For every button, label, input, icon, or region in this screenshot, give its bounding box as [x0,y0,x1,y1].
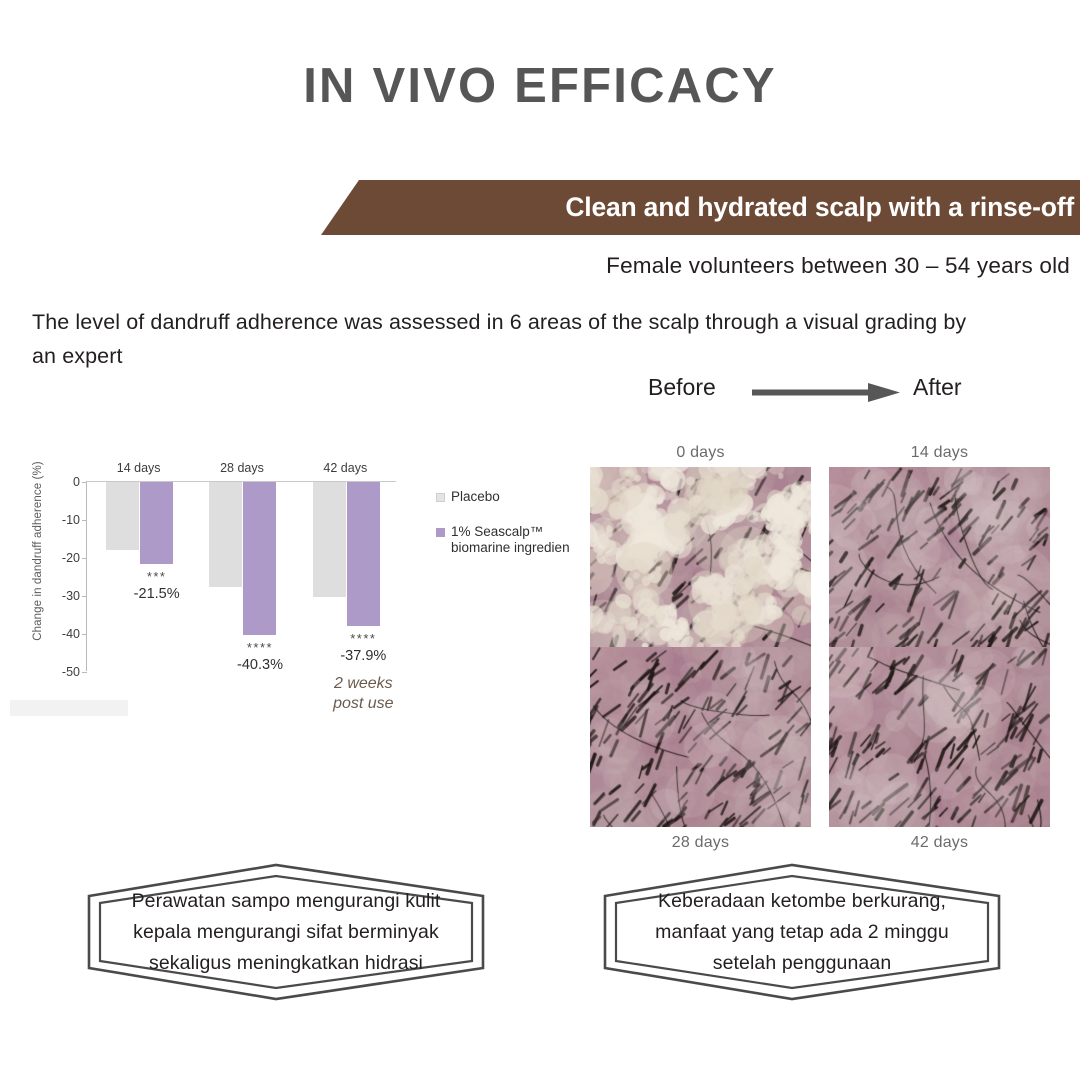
chart-y-axis-title: Change in dandruff adherence (%) [32,451,44,651]
scalp-photo-cell: 0 days [590,444,811,647]
chart-bar [106,482,139,550]
chart-value-label: -37.9% [315,648,411,664]
scalp-photo-caption: 42 days [829,834,1050,852]
legend-swatch-active-icon [436,528,445,537]
chart-y-tick: -30 [62,589,87,603]
chart-plot-area: 0-10-20-30-40-5014 days***-21.5%28 days*… [86,481,396,671]
chart-footnote-blurred [10,700,128,716]
volunteers-note: Female volunteers between 30 – 54 years … [0,253,1070,279]
chart-y-tick: -40 [62,627,87,641]
banner-title: Clean and hydrated scalp with a rinse-of… [321,180,1080,235]
arrow-right-icon [752,380,900,404]
scalp-photo-cell: 42 days [829,647,1050,852]
callout-left-line1: Perawatan sampo mengurangi kulit [132,886,441,917]
chart-bar [313,482,346,597]
chart-bar [140,482,173,564]
callout-left-line2: kepala mengurangi sifat berminyak [133,917,439,948]
callout-right-text: Keberadaan ketombe berkurang, manfaat ya… [602,862,1002,1002]
chart-y-tick: 0 [73,475,87,489]
scalp-photo-grid: 0 days14 days28 days42 days [590,422,1050,802]
chart-group-label: 14 days [87,461,190,475]
scalp-photo-caption: 14 days [829,444,1050,462]
legend-label-placebo: Placebo [451,489,500,505]
after-label: After [913,374,962,401]
scalp-photo-cell: 28 days [590,647,811,852]
chart-bar [243,482,276,635]
slide-root: IN VIVO EFFICACY Clean and hydrated scal… [0,0,1080,1080]
scalp-photo-caption: 28 days [590,834,811,852]
callout-right-line1: Keberadaan ketombe berkurang, [658,886,946,917]
legend-label-active-line2: biomarine ingredien [451,540,570,555]
chart-y-tick: -20 [62,551,87,565]
chart-bar [347,482,380,626]
legend-item-placebo: Placebo [436,489,596,505]
chart-y-tick: -10 [62,513,87,527]
chart-group-label: 28 days [190,461,293,475]
before-label: Before [648,374,716,401]
callout-right-line3: setelah penggunaan [713,948,892,979]
scalp-photo-image [590,647,811,827]
callout-right-line2: manfaat yang tetap ada 2 minggu [655,917,949,948]
callout-left-text: Perawatan sampo mengurangi kulit kepala … [86,862,486,1002]
chart-significance-stars: **** [220,640,300,655]
chart-bar [209,482,242,587]
scalp-photo-image [829,467,1050,647]
chart-legend: Placebo 1% Seascalp™ biomarine ingredien [436,489,596,575]
chart-y-tick: -50 [62,665,87,679]
scalp-photo-caption: 0 days [590,444,811,462]
legend-label-active-line1: 1% Seascalp™ [451,524,543,539]
callout-left-line3: sekaligus meningkatkan hidrasi [149,948,423,979]
callout-right: Keberadaan ketombe berkurang, manfaat ya… [602,862,1002,1002]
chart-annotation-post-use: 2 weekspost use [311,674,415,714]
callout-left: Perawatan sampo mengurangi kulit kepala … [86,862,486,1002]
chart-significance-stars: *** [117,569,197,584]
chart-group-label: 42 days [294,461,397,475]
scalp-photo-image [590,467,811,647]
dandruff-adherence-chart: Change in dandruff adherence (%) 0-10-20… [8,440,598,730]
page-title: IN VIVO EFFICACY [0,58,1080,114]
intro-paragraph: The level of dandruff adherence was asse… [32,305,982,373]
legend-item-active: 1% Seascalp™ biomarine ingredien [436,524,596,556]
scalp-photo-cell: 14 days [829,444,1050,647]
legend-label-active: 1% Seascalp™ biomarine ingredien [451,524,570,556]
scalp-photo-image [829,647,1050,827]
chart-significance-stars: **** [323,631,403,646]
legend-swatch-placebo-icon [436,493,445,502]
